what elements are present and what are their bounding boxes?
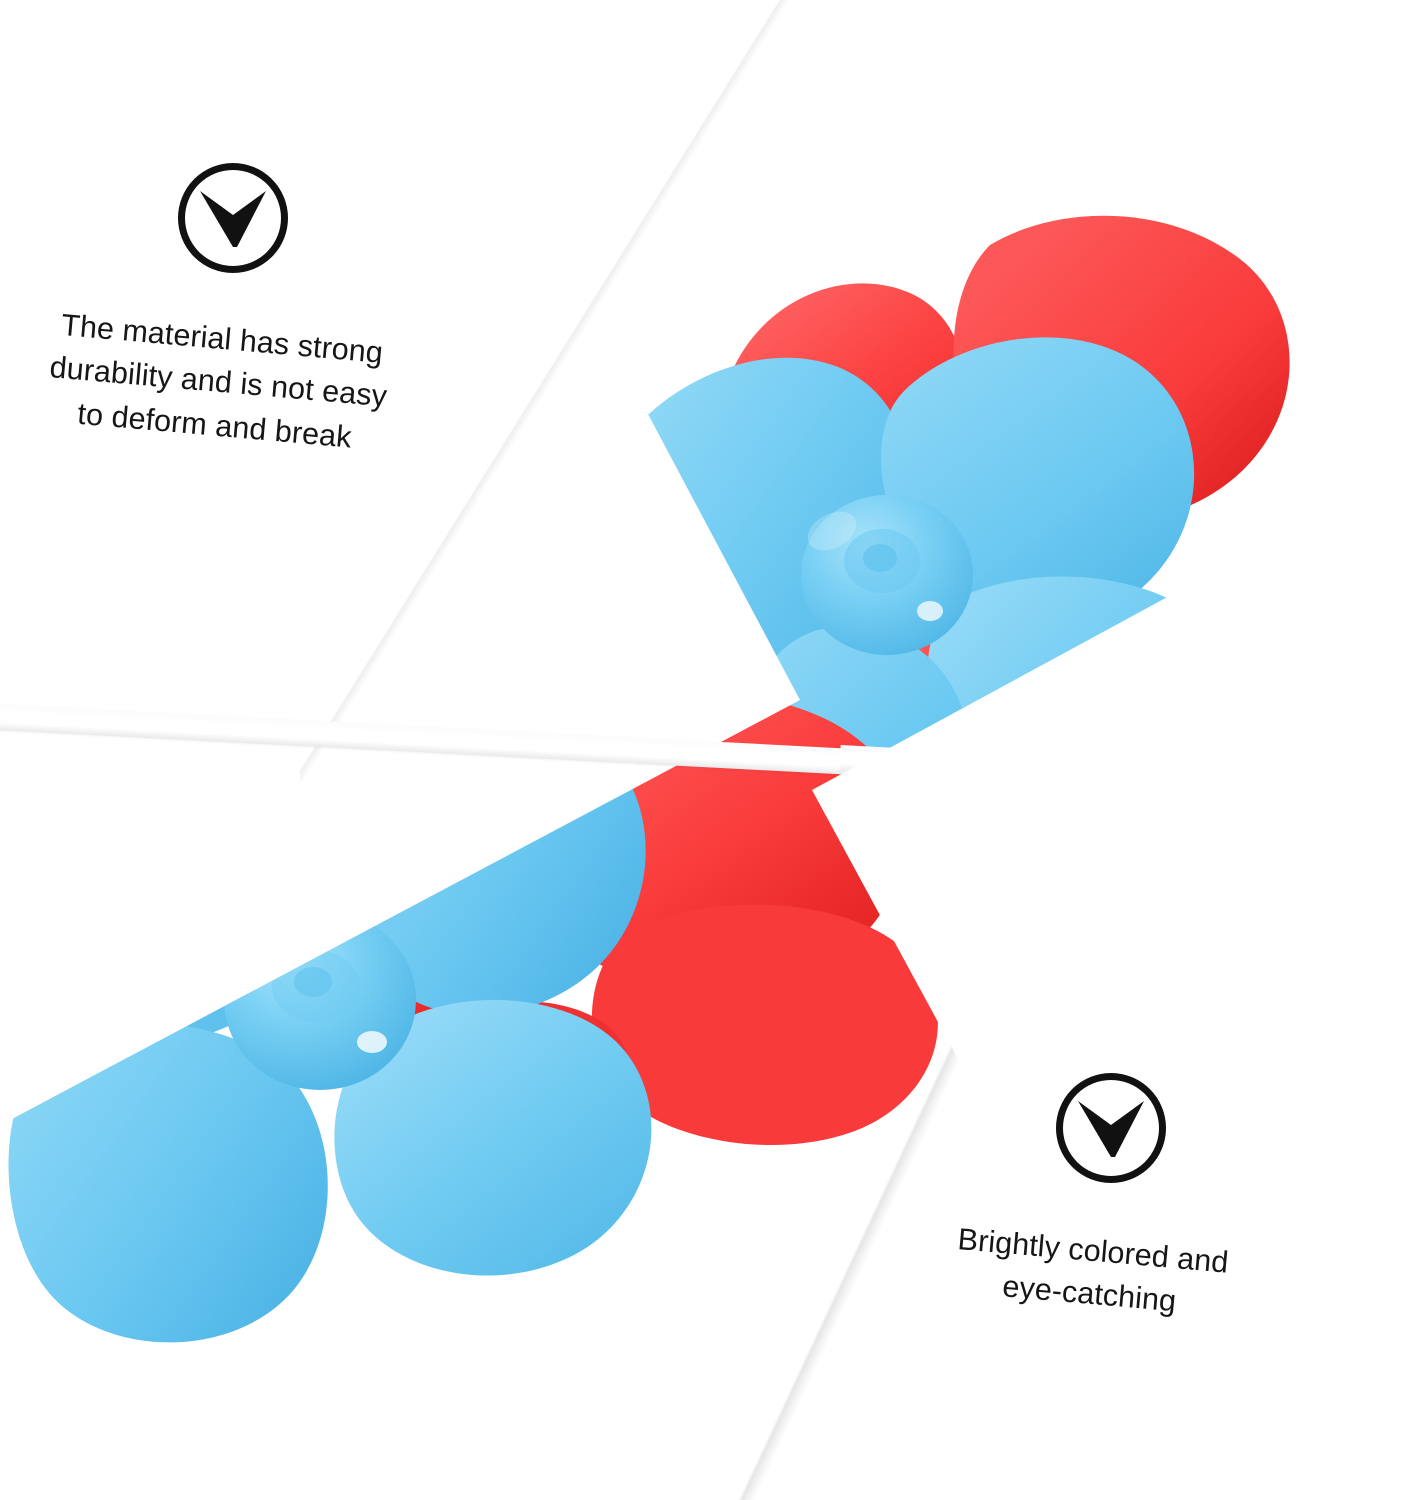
- chevron-down-circle-icon: [1056, 1073, 1166, 1183]
- product-photo-lower-assembly: [0, 690, 980, 1410]
- infographic-canvas: The material has strong durability and i…: [0, 0, 1421, 1500]
- blue-fan-lower: [9, 706, 652, 1342]
- feature-callout-brightly-colored: Brightly colored and eye-catching: [860, 1040, 1380, 1420]
- feature-callout-durability: The material has strong durability and i…: [0, 0, 460, 520]
- feature-text-durability: The material has strong durability and i…: [0, 298, 447, 466]
- feature-text-brightly-colored: Brightly colored and eye-catching: [853, 1210, 1329, 1337]
- chevron-down-circle-icon: [178, 163, 288, 273]
